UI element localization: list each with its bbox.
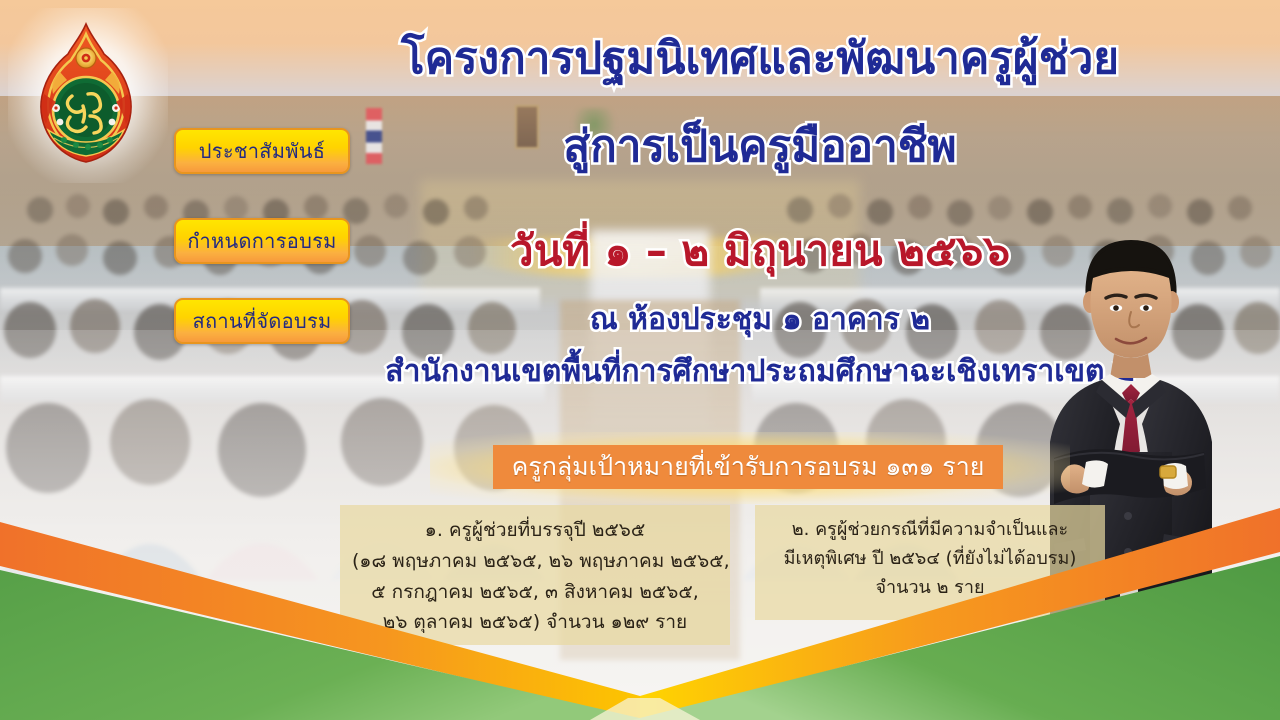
button-public-relations-label: ประชาสัมพันธ์ <box>199 135 325 167</box>
target-participants-label: ครูกลุ่มเป้าหมายที่เข้ารับการอบรม ๑๓๑ รา… <box>512 447 985 487</box>
button-training-schedule-label: กำหนดการอบรม <box>187 225 336 257</box>
poster-title-line-2: สู่การเป็นครูมืออาชีพ <box>330 124 1190 170</box>
poster-root: ประชาสัมพันธ์ กำหนดการอบรม สถานที่จัดอบร… <box>0 0 1280 720</box>
bottom-decorative-bands <box>0 500 1280 720</box>
button-training-venue[interactable]: สถานที่จัดอบรม <box>174 298 350 344</box>
target-participants-banner: ครูกลุ่มเป้าหมายที่เข้ารับการอบรม ๑๓๑ รา… <box>493 445 1003 489</box>
button-training-venue-label: สถานที่จัดอบรม <box>192 305 331 337</box>
thai-ministry-of-education-emblem-icon <box>30 22 142 167</box>
button-training-schedule[interactable]: กำหนดการอบรม <box>174 218 350 264</box>
poster-title-line-1: โครงการปฐมนิเทศและพัฒนาครูผู้ช่วย <box>330 36 1190 82</box>
button-public-relations[interactable]: ประชาสัมพันธ์ <box>174 128 350 174</box>
